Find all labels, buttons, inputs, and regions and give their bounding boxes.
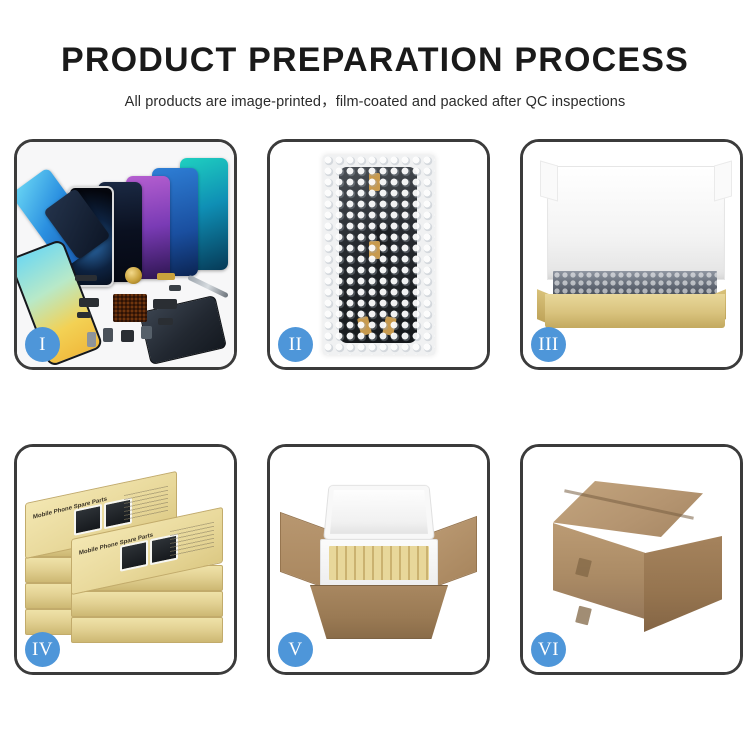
step-badge-1: I xyxy=(25,327,60,362)
process-step-panel-4: Mobile Phone Spare Parts Mobile Phone Sp… xyxy=(14,444,237,675)
header: PRODUCT PREPARATION PROCESS All products… xyxy=(0,0,750,111)
step-badge-2: II xyxy=(278,327,313,362)
step-badge-4: IV xyxy=(25,632,60,667)
page-subtitle: All products are image-printed，film-coat… xyxy=(0,79,750,111)
retail-box-stack: Mobile Phone Spare Parts Mobile Phone Sp… xyxy=(23,465,228,661)
step-badge-5: V xyxy=(278,632,313,667)
packed-boxes-icon xyxy=(329,546,429,580)
step-badge-6: VI xyxy=(531,632,566,667)
spare-part-icon xyxy=(141,326,152,339)
foam-box-lid-icon xyxy=(323,485,435,540)
kraft-box-front-icon xyxy=(545,294,725,328)
page-title: PRODUCT PREPARATION PROCESS xyxy=(0,0,750,79)
process-step-panel-6: VI xyxy=(520,444,743,675)
foam-box-body-icon xyxy=(320,539,438,589)
carton-face-left-icon xyxy=(553,523,645,619)
spare-part-icon xyxy=(153,299,177,309)
product-preparation-infographic: PRODUCT PREPARATION PROCESS All products… xyxy=(0,0,750,750)
process-step-panel-2: II xyxy=(267,139,490,370)
spare-part-icon xyxy=(103,328,113,342)
box-spec-text-lines xyxy=(124,486,168,521)
carton-front-icon xyxy=(310,585,448,639)
spare-part-icon xyxy=(87,332,96,347)
spare-part-icon xyxy=(169,285,181,291)
process-step-grid: I II xyxy=(14,139,744,675)
spare-part-icon xyxy=(75,275,97,281)
retail-box-icon xyxy=(71,617,223,643)
spare-part-icon xyxy=(79,298,99,307)
bubble-wrap-bag xyxy=(323,155,435,355)
carton-face-right-icon xyxy=(644,536,722,632)
carton-face-top-icon xyxy=(553,481,703,537)
spare-part-icon xyxy=(121,330,134,342)
chip-grid-icon xyxy=(113,294,147,322)
spare-part-icon xyxy=(158,318,173,325)
bubble-texture xyxy=(323,155,435,355)
process-step-panel-5: V xyxy=(267,444,490,675)
retail-box-icon xyxy=(71,591,223,617)
box-window-icon xyxy=(74,504,102,536)
box-window-icon xyxy=(120,540,148,572)
box-spec-text-lines xyxy=(170,522,214,557)
carton-tape-icon xyxy=(575,606,592,626)
process-step-panel-3: III xyxy=(520,139,743,370)
shipping-carton xyxy=(539,481,729,631)
step-badge-3: III xyxy=(531,327,566,362)
coil-component-icon xyxy=(125,267,142,284)
spare-part-icon xyxy=(157,273,175,280)
process-step-panel-1: I xyxy=(14,139,237,370)
spare-part-icon xyxy=(77,312,91,318)
box-lid-icon xyxy=(547,166,725,280)
